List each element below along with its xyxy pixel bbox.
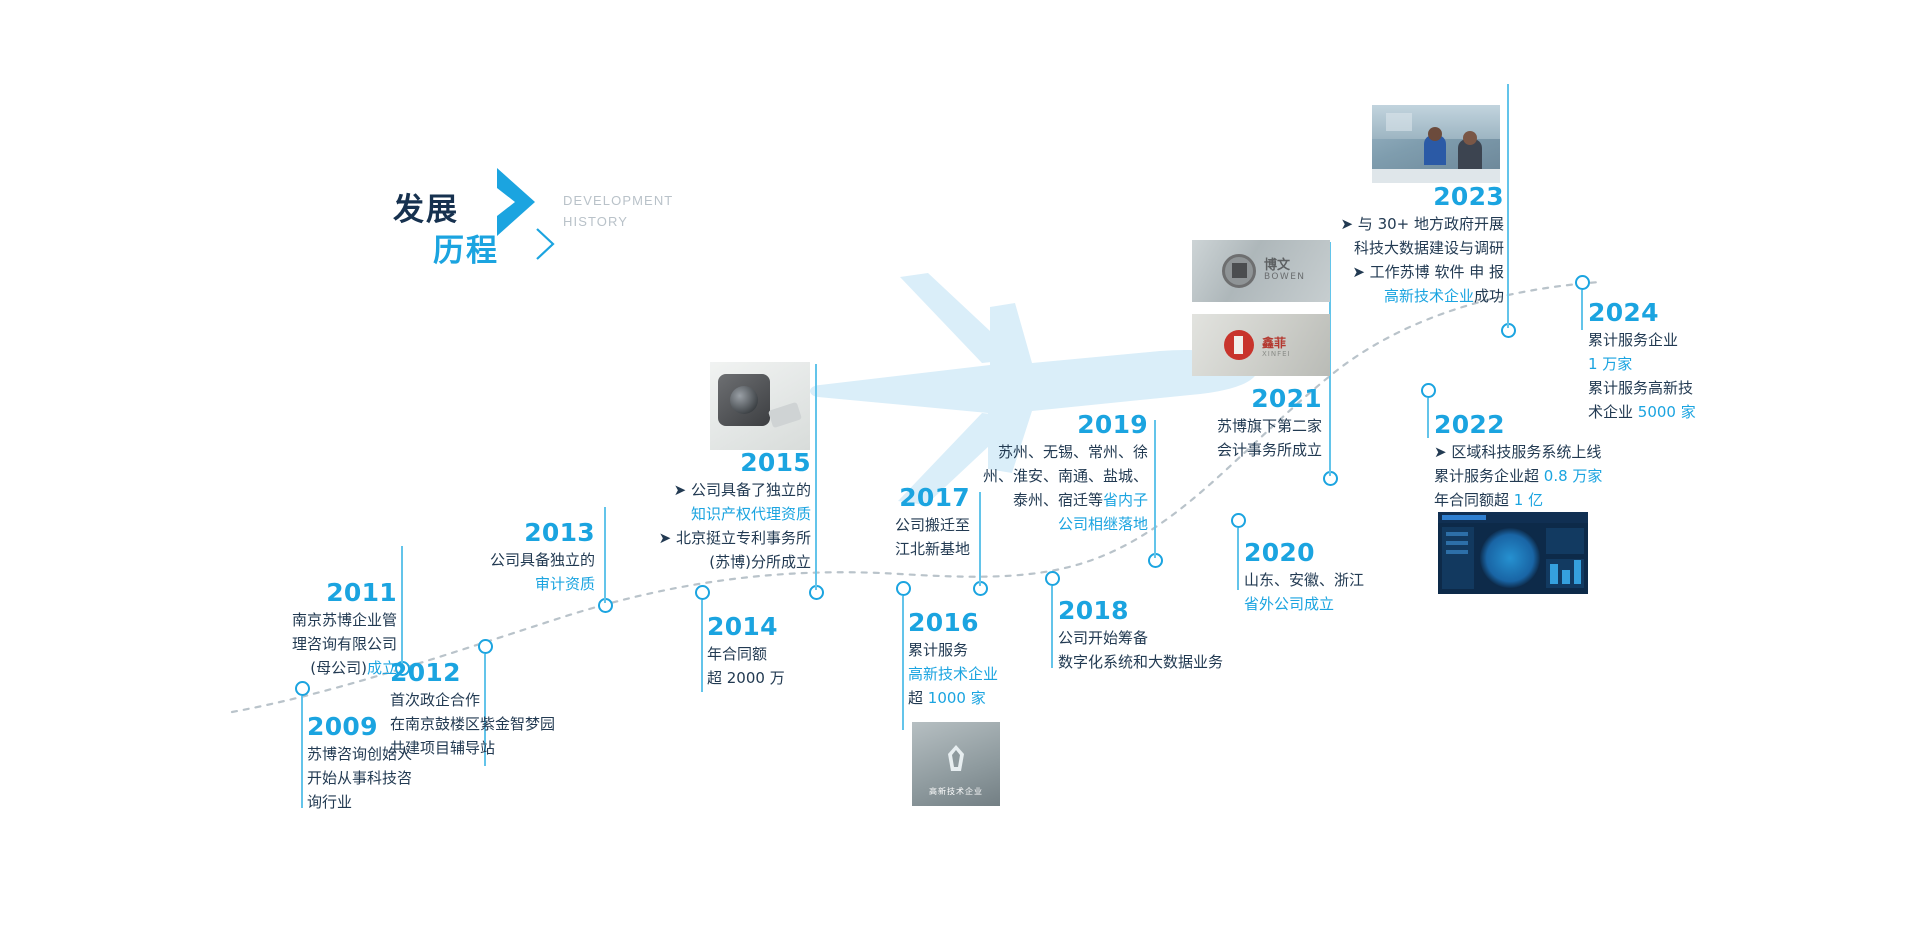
node-dot[interactable] [896,581,911,596]
entry-2019: 2019 苏州、无锡、常州、徐州、淮安、南通、盐城、泰州、宿迁等省内子公司相继落… [940,410,1148,536]
highlight-text: 省内子 [1103,491,1148,509]
entry-desc-line: 州、淮安、南通、盐城、 [940,464,1148,488]
highlight-text: 高新技术企业 [908,665,998,683]
highlight-text: 高新技术企业 [1384,287,1474,305]
entry-desc: 山东、安徽、浙江省外公司成立 [1244,568,1434,616]
plain-text: 年合同额 [707,645,767,663]
photo-2023-office [1372,105,1500,183]
node-dot[interactable] [1045,571,1060,586]
plain-text: 年合同额超 [1434,491,1514,509]
highlight-text: 省外公司成立 [1244,595,1334,613]
highlight-text: 知识产权代理资质 [691,505,811,523]
photo-2015-device [710,362,810,450]
photo-caption: 高新技术企业 [912,786,1000,797]
plain-text: 开始从事科技咨 [307,769,412,787]
entry-desc: 年合同额超 2000 万 [707,642,867,690]
entry-year: 2012 [390,658,650,688]
node-dot[interactable] [1421,383,1436,398]
entry-year: 2023 [1292,182,1504,212]
highlight-text: 0.8 万家 [1544,467,1603,485]
entry-desc-line: 高新技术企业成功 [1292,284,1504,308]
entry-desc-line: 江北新基地 [800,537,970,561]
entry-year: 2020 [1244,538,1434,568]
title-en-line2: HISTORY [563,211,673,232]
node-dot[interactable] [295,681,310,696]
plain-text: (苏博)分所成立 [709,553,811,571]
entry-desc-line: 审计资质 [405,572,595,596]
entry-desc-line: 共建项目辅导站 [390,736,650,760]
entry-desc-line: 科技大数据建设与调研 [1292,236,1504,260]
plain-text: 泰州、宿迁等 [1013,491,1103,509]
entry-2021: 2021 苏博旗下第二家会计事务所成立 [1130,384,1322,462]
entry-desc: 苏州、无锡、常州、徐州、淮安、南通、盐城、泰州、宿迁等省内子公司相继落地 [940,440,1148,536]
photo-2022-dashboard [1438,512,1588,594]
title-en: DEVELOPMENT HISTORY [563,190,673,232]
entry-desc-line: 数字化系统和大数据业务 [1058,650,1308,674]
node-dot[interactable] [478,639,493,654]
page-title: 发展 历程 DEVELOPMENT HISTORY [393,178,633,268]
entry-desc-line: 1 万家 [1588,352,1788,376]
title-en-line1: DEVELOPMENT [563,190,673,211]
entry-desc-line: 年合同额超 1 亿 [1434,488,1664,512]
plain-text: 数字化系统和大数据业务 [1058,653,1223,671]
plain-text: ➤ 与 30+ 地方政府开展 [1340,215,1504,233]
timeline-infographic: 发展 历程 DEVELOPMENT HISTORY [0,0,1920,951]
entry-desc-line: 首次政企合作 [390,688,650,712]
plain-text: 首次政企合作 [390,691,480,709]
entry-desc-line: 公司具备独立的 [405,548,595,572]
plain-text: 术企业 [1588,403,1638,421]
entry-desc: 南京苏博企业管理咨询有限公司(母公司)成立 [197,608,397,680]
node-dot[interactable] [695,585,710,600]
entry-desc-line: (母公司)成立 [197,656,397,680]
entry-desc-line: 山东、安徽、浙江 [1244,568,1434,592]
plain-text: 公司开始筹备 [1058,629,1148,647]
plain-text: 超 2000 万 [707,669,785,687]
plain-text: 州、淮安、南通、盐城、 [983,467,1148,485]
plain-text: 累计服务企业 [1588,331,1678,349]
plain-text: 科技大数据建设与调研 [1354,239,1504,257]
entry-desc-line: 累计服务 [908,638,1078,662]
entry-desc-line: 术企业 5000 家 [1588,400,1788,424]
entry-year: 2024 [1588,298,1788,328]
entry-desc: ➤ 区域科技服务系统上线累计服务企业超 0.8 万家年合同额超 1 亿 [1434,440,1664,512]
entry-desc-line: 累计服务企业 [1588,328,1788,352]
entry-year: 2021 [1130,384,1322,414]
entry-desc-line: 年合同额 [707,642,867,666]
entry-desc-line: 询行业 [307,790,507,814]
plain-text: 共建项目辅导站 [390,739,495,757]
entry-desc-line: 知识产权代理资质 [596,502,811,526]
entry-desc-line: ➤ 北京挺立专利事务所 [596,526,811,550]
entry-desc-line: 苏博旗下第二家 [1130,414,1322,438]
plain-text: 询行业 [307,793,352,811]
node-stem [701,600,703,692]
entry-desc: 累计服务企业1 万家累计服务高新技术企业 5000 家 [1588,328,1788,424]
entry-desc: 公司开始筹备数字化系统和大数据业务 [1058,626,1308,674]
plain-text: ➤ 公司具备了独立的 [674,481,811,499]
entry-year: 2014 [707,612,867,642]
plain-text: 江北新基地 [895,540,970,558]
entry-year: 2019 [940,410,1148,440]
node-stem [401,546,403,666]
entry-desc-line: 高新技术企业 [908,662,1078,686]
node-stem [902,596,904,730]
entry-desc-line: ➤ 工作苏博 软件 申 报 [1292,260,1504,284]
entry-desc: 公司具备独立的审计资质 [405,548,595,596]
entry-desc-line: 开始从事科技咨 [307,766,507,790]
entry-2016: 2016 累计服务高新技术企业超 1000 家 [908,608,1078,710]
entry-desc-line: 超 1000 家 [908,686,1078,710]
highlight-text: 1000 家 [928,689,986,707]
entry-year: 2015 [596,448,811,478]
entry-2014: 2014 年合同额超 2000 万 [707,612,867,690]
entry-desc-line: 南京苏博企业管 [197,608,397,632]
entry-2013: 2013 公司具备独立的审计资质 [405,518,595,596]
entry-desc-line: ➤ 与 30+ 地方政府开展 [1292,212,1504,236]
entry-desc: ➤ 公司具备了独立的知识产权代理资质➤ 北京挺立专利事务所(苏博)分所成立 [596,478,811,574]
entry-2011: 2011 南京苏博企业管理咨询有限公司(母公司)成立 [197,578,397,680]
plain-text: 在南京鼓楼区紫金智梦园 [390,715,555,733]
entry-desc: 苏博旗下第二家会计事务所成立 [1130,414,1322,462]
entry-2023: 2023 ➤ 与 30+ 地方政府开展科技大数据建设与调研➤ 工作苏博 软件 申… [1292,182,1504,308]
node-stem [1581,290,1583,330]
entry-2024: 2024 累计服务企业1 万家累计服务高新技术企业 5000 家 [1588,298,1788,424]
highlight-text: 1 亿 [1514,491,1543,509]
plain-text: ➤ 北京挺立专利事务所 [659,529,811,547]
entry-desc-line: 超 2000 万 [707,666,867,690]
node-stem [1237,528,1239,590]
plain-text: 累计服务企业超 [1434,467,1544,485]
chevron-right-small-icon [533,226,557,262]
photo-2021-second-logo: 鑫菲 XINFEI [1192,314,1330,376]
plain-text: 理咨询有限公司 [292,635,397,653]
entry-desc: 累计服务高新技术企业超 1000 家 [908,638,1078,710]
highlight-text: 5000 家 [1638,403,1696,421]
node-stem [1507,84,1509,328]
title-cn-line2: 历程 [433,225,499,270]
plain-text: 成功 [1474,287,1504,305]
highlight-text: 审计资质 [535,575,595,593]
plain-text: 会计事务所成立 [1217,441,1322,459]
entry-desc-line: 公司开始筹备 [1058,626,1308,650]
plain-text: 超 [908,689,928,707]
entry-2020: 2020 山东、安徽、浙江省外公司成立 [1244,538,1434,616]
highlight-text: 公司相继落地 [1058,515,1148,533]
entry-desc-line: ➤ 区域科技服务系统上线 [1434,440,1664,464]
entry-desc-line: 在南京鼓楼区紫金智梦园 [390,712,650,736]
highlight-text: 1 万家 [1588,355,1632,373]
plain-text: 累计服务高新技 [1588,379,1693,397]
entry-desc-line: 省外公司成立 [1244,592,1434,616]
node-dot[interactable] [1575,275,1590,290]
plain-text: 苏博旗下第二家 [1217,417,1322,435]
photo-2016-certificate: 高新技术企业 [912,722,1000,806]
entry-desc-line: 苏州、无锡、常州、徐 [940,440,1148,464]
entry-desc-line: (苏博)分所成立 [596,550,811,574]
entry-desc-line: 会计事务所成立 [1130,438,1322,462]
node-dot[interactable] [1231,513,1246,528]
plain-text: 南京苏博企业管 [292,611,397,629]
entry-year: 2016 [908,608,1078,638]
plain-text: 苏州、无锡、常州、徐 [998,443,1148,461]
entry-2022: 2022 ➤ 区域科技服务系统上线累计服务企业超 0.8 万家年合同额超 1 亿 [1434,410,1664,512]
plain-text: (母公司) [310,659,367,677]
entry-desc-line: ➤ 公司具备了独立的 [596,478,811,502]
title-cn-line1: 发展 [393,184,459,229]
entry-desc-line: 累计服务企业超 0.8 万家 [1434,464,1664,488]
entry-desc-line: 理咨询有限公司 [197,632,397,656]
plain-text: 山东、安徽、浙江 [1244,571,1364,589]
plain-text: 累计服务 [908,641,968,659]
entry-desc: 首次政企合作在南京鼓楼区紫金智梦园共建项目辅导站 [390,688,650,760]
entry-desc-line: 累计服务高新技 [1588,376,1788,400]
entry-desc-line: 泰州、宿迁等省内子 [940,488,1148,512]
entry-2015: 2015 ➤ 公司具备了独立的知识产权代理资质➤ 北京挺立专利事务所(苏博)分所… [596,448,811,574]
entry-year: 2011 [197,578,397,608]
plain-text: ➤ 区域科技服务系统上线 [1434,443,1601,461]
node-stem [301,696,303,808]
entry-desc-line: 公司相继落地 [940,512,1148,536]
entry-2012: 2012 首次政企合作在南京鼓楼区紫金智梦园共建项目辅导站 [390,658,650,760]
plain-text: 公司具备独立的 [490,551,595,569]
entry-desc: ➤ 与 30+ 地方政府开展科技大数据建设与调研➤ 工作苏博 软件 申 报高新技… [1292,212,1504,308]
node-stem [1427,398,1429,438]
entry-year: 2013 [405,518,595,548]
plain-text: ➤ 工作苏博 软件 申 报 [1352,263,1504,281]
